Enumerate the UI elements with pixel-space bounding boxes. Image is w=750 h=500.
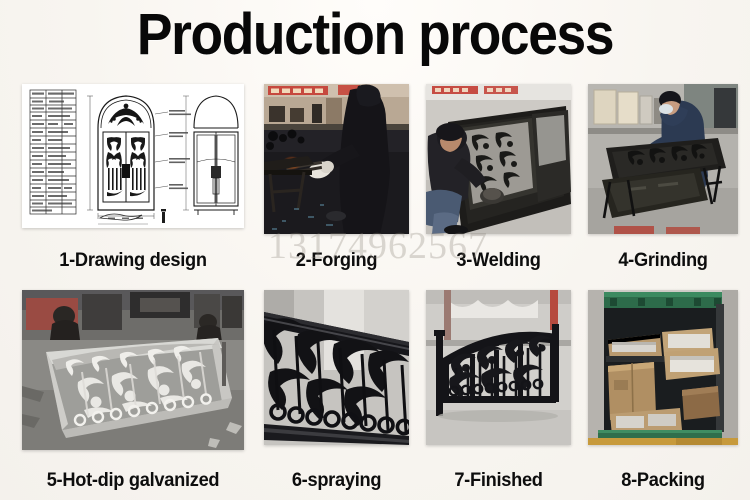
step-cell-8: 8-Packing: [588, 290, 738, 496]
finished-gate-illustration: [426, 290, 571, 445]
step-caption-1: 1-Drawing design: [26, 250, 239, 272]
step-cell-4: 4-Grinding: [588, 84, 738, 290]
step-image-7[interactable]: [426, 290, 571, 445]
step-caption-6: 6-spraying: [267, 470, 406, 492]
spraying-illustration: [264, 290, 409, 445]
page-title: Production process: [30, 2, 720, 68]
galvanizing-illustration: [22, 290, 244, 450]
packing-illustration: [588, 290, 738, 445]
step-caption-4: 4-Grinding: [591, 250, 735, 272]
step-image-6[interactable]: [264, 290, 409, 445]
step-caption-7: 7-Finished: [429, 470, 568, 492]
drawing-design-illustration: [22, 84, 244, 228]
step-cell-3: 3-Welding: [426, 84, 571, 290]
step-image-3[interactable]: [426, 84, 571, 234]
step-image-4[interactable]: [588, 84, 738, 234]
step-image-8[interactable]: [588, 290, 738, 445]
step-cell-7: 7-Finished: [426, 290, 571, 496]
step-image-1[interactable]: [22, 84, 244, 228]
welding-illustration: [426, 84, 571, 234]
step-cell-1: 1-Drawing design: [22, 84, 244, 290]
step-image-2[interactable]: [264, 84, 409, 234]
process-steps-grid: 1-Drawing design: [0, 78, 750, 498]
step-image-5[interactable]: [22, 290, 244, 450]
step-cell-5: 5-Hot-dip galvanized: [22, 290, 244, 496]
forging-illustration: [264, 84, 409, 234]
step-cell-6: 6-spraying: [264, 290, 409, 496]
step-caption-8: 8-Packing: [591, 470, 735, 492]
step-caption-5: 5-Hot-dip galvanized: [26, 470, 239, 492]
grinding-illustration: [588, 84, 738, 234]
step-cell-2: 2-Forging: [264, 84, 409, 290]
step-caption-2: 2-Forging: [267, 250, 406, 272]
step-caption-3: 3-Welding: [429, 250, 568, 272]
